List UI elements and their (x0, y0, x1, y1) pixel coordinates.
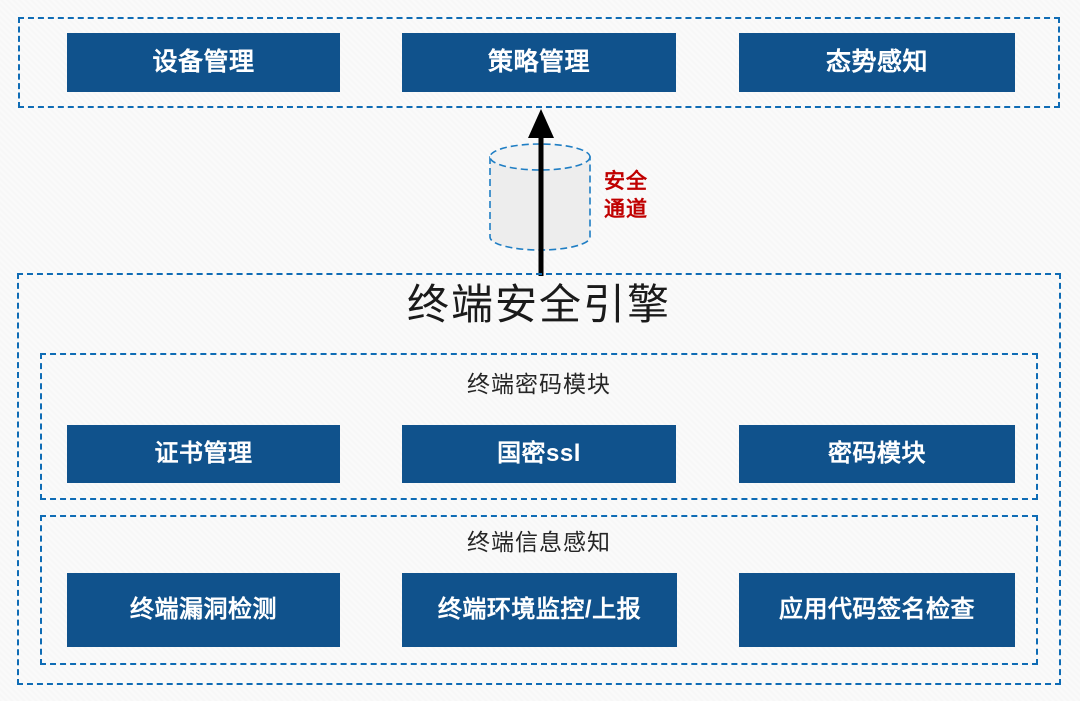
tile-code-signature-check[interactable]: 应用代码签名检查 (739, 573, 1015, 647)
tile-situational-awareness[interactable]: 态势感知 (739, 33, 1015, 92)
tile-policy-management[interactable]: 策略管理 (402, 33, 676, 92)
engine-title: 终端安全引擎 (17, 282, 1061, 328)
up-arrow-icon (525, 108, 557, 276)
tile-certificate-management[interactable]: 证书管理 (67, 425, 340, 483)
secure-channel-label: 安全 通道 (604, 168, 680, 225)
tile-crypto-module[interactable]: 密码模块 (739, 425, 1015, 483)
terminal-awareness-caption: 终端信息感知 (40, 530, 1038, 555)
tile-gm-ssl[interactable]: 国密ssl (402, 425, 676, 483)
tile-device-management[interactable]: 设备管理 (67, 33, 340, 92)
tile-environment-monitoring[interactable]: 终端环境监控/上报 (402, 573, 677, 647)
diagram-canvas: 设备管理 策略管理 态势感知 安全 通道 终端安全引擎 终端密码模块 证书管理 … (0, 0, 1080, 701)
secure-channel-label-line1: 安全 (604, 168, 680, 196)
secure-channel-label-line2: 通道 (604, 196, 680, 224)
tile-vulnerability-detection[interactable]: 终端漏洞检测 (67, 573, 340, 647)
crypto-module-caption: 终端密码模块 (40, 372, 1038, 397)
